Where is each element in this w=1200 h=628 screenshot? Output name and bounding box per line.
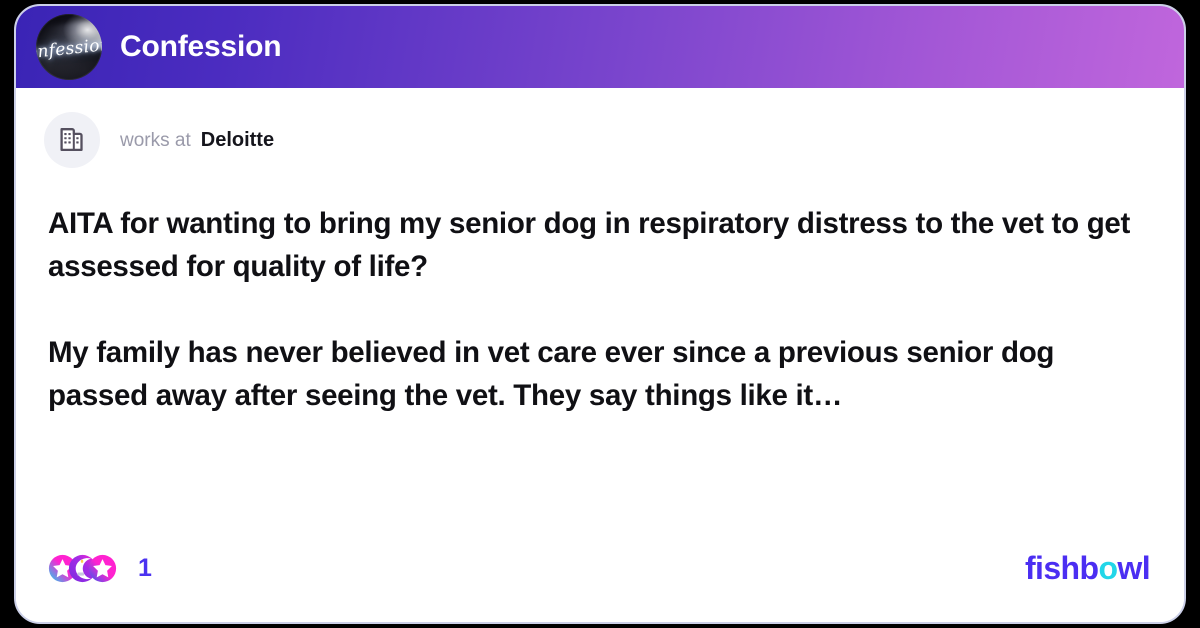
author-meta-text: works at Deloitte [120, 129, 274, 152]
card-header: onfession Confession [16, 6, 1184, 88]
card-body: works at Deloitte AITA for wanting to br… [16, 88, 1184, 622]
fishbowl-logo-o: o [1098, 552, 1117, 584]
star-reaction-icon[interactable] [88, 554, 117, 583]
post-content[interactable]: AITA for wanting to bring my senior dog … [16, 168, 1184, 417]
company-name[interactable]: Deloitte [201, 129, 274, 152]
reactions-group[interactable]: 1 [48, 554, 152, 583]
fishbowl-post-card[interactable]: onfession Confession [14, 4, 1186, 624]
office-building-icon [57, 125, 87, 155]
post-paragraph: AITA for wanting to bring my senior dog … [48, 202, 1144, 288]
reaction-count: 1 [138, 556, 152, 581]
author-meta-row: works at Deloitte [16, 88, 1184, 168]
bowl-title: Confession [120, 32, 281, 62]
fishbowl-logo: fishbowl [1025, 552, 1150, 584]
card-footer: 1 fishbowl [16, 514, 1184, 622]
fishbowl-logo-part1: fishb [1025, 552, 1098, 584]
company-badge [44, 112, 100, 168]
post-paragraph: My family has never believed in vet care… [48, 331, 1144, 417]
works-at-label: works at [120, 130, 191, 152]
reaction-badge-stack[interactable] [48, 554, 117, 583]
fishbowl-logo-part2: wl [1117, 552, 1150, 584]
confession-avatar[interactable]: onfession [36, 14, 102, 80]
